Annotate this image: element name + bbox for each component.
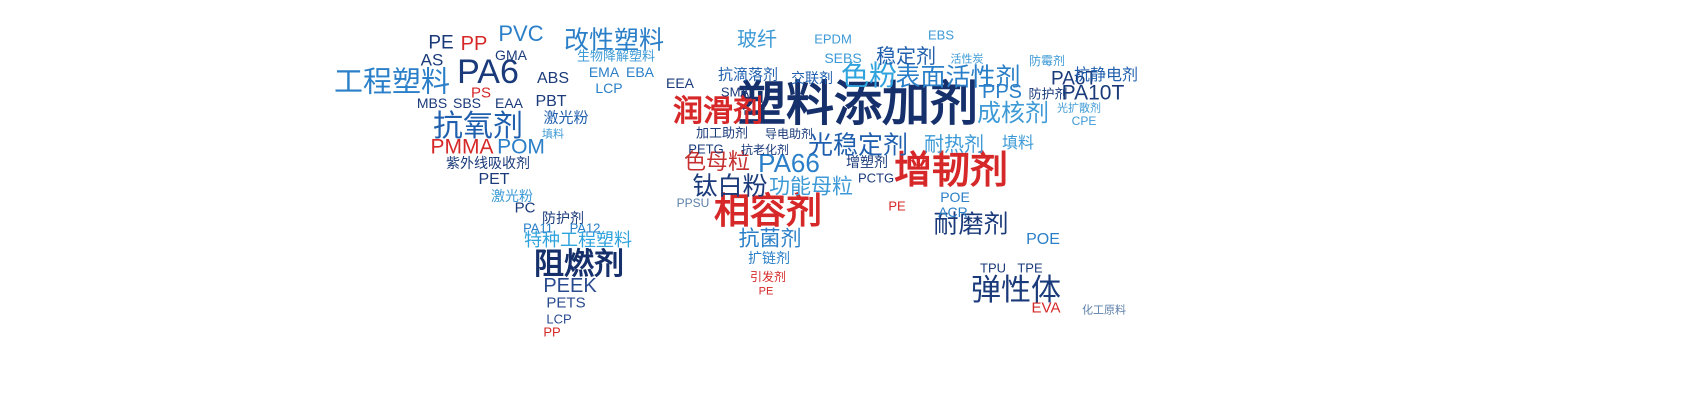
cloud-word[interactable]: EBA xyxy=(626,65,654,79)
cloud-word[interactable]: 光稳定剂 xyxy=(808,133,908,158)
cloud-word[interactable]: GMA xyxy=(495,48,527,62)
cloud-word[interactable]: ACR xyxy=(938,205,968,219)
cloud-word[interactable]: 玻纤 xyxy=(737,29,777,49)
cloud-word[interactable]: 成核剂 xyxy=(977,101,1049,125)
cloud-word[interactable]: POE xyxy=(940,190,970,204)
cloud-word[interactable]: 光扩散剂 xyxy=(1057,103,1101,114)
cloud-word[interactable]: PPSU xyxy=(677,197,710,209)
cloud-word[interactable]: PA12 xyxy=(570,222,601,235)
cloud-word[interactable]: POE xyxy=(1026,232,1060,248)
cloud-word[interactable]: 交联剂 xyxy=(791,72,833,86)
cloud-word[interactable]: EEA xyxy=(666,76,694,90)
cloud-word[interactable]: 润滑剂 xyxy=(673,97,763,127)
cloud-word[interactable]: 生物降解塑料 xyxy=(577,51,655,64)
cloud-word[interactable]: 激光粉 xyxy=(543,111,588,126)
cloud-word[interactable]: PETS xyxy=(546,296,585,311)
cloud-word[interactable]: TPU xyxy=(980,262,1006,275)
cloud-word[interactable]: 扩链剂 xyxy=(748,252,790,266)
cloud-word[interactable]: PPS xyxy=(982,82,1022,102)
cloud-word[interactable]: 抗静电剂 xyxy=(1074,67,1138,83)
cloud-word[interactable]: 防护剂 xyxy=(1028,89,1067,102)
cloud-word[interactable]: PC xyxy=(515,201,536,216)
cloud-word[interactable]: PEEK xyxy=(543,276,596,296)
cloud-word[interactable]: EAA xyxy=(495,96,523,110)
cloud-word[interactable]: EPDM xyxy=(814,33,852,46)
cloud-word[interactable]: 引发剂 xyxy=(750,271,786,283)
cloud-word[interactable]: 增塑剂 xyxy=(846,156,888,170)
cloud-word[interactable]: EVA xyxy=(1032,301,1061,316)
cloud-word[interactable]: PET xyxy=(478,172,509,188)
cloud-word[interactable]: 抗菌剂 xyxy=(739,229,802,250)
cloud-word[interactable]: 导电助剂 xyxy=(765,128,813,140)
cloud-word[interactable]: PETG xyxy=(688,143,723,156)
cloud-word[interactable]: 功能母粒 xyxy=(769,177,853,198)
cloud-word[interactable]: 抗老化剂 xyxy=(741,144,789,156)
cloud-word[interactable]: TPE xyxy=(1017,262,1042,275)
cloud-word[interactable]: 稳定剂 xyxy=(876,46,936,66)
cloud-word[interactable]: PA11 xyxy=(523,222,553,235)
cloud-word[interactable]: 化工原料 xyxy=(1082,305,1126,316)
cloud-word[interactable]: AS xyxy=(421,52,444,69)
cloud-word[interactable]: SBS xyxy=(453,96,481,110)
cloud-word[interactable]: 填料 xyxy=(1002,135,1034,151)
cloud-word[interactable]: SMA xyxy=(721,86,749,99)
cloud-word[interactable]: 耐热剂 xyxy=(924,134,984,154)
cloud-word[interactable]: SEBS xyxy=(824,51,861,65)
cloud-word[interactable]: PMMA xyxy=(431,137,494,158)
cloud-word[interactable]: 紫外线吸收剂 xyxy=(446,157,530,171)
cloud-word[interactable]: 加工助剂 xyxy=(696,128,748,141)
cloud-word[interactable]: CPE xyxy=(1072,115,1097,127)
cloud-word[interactable]: POM xyxy=(497,137,545,158)
cloud-word[interactable]: PP xyxy=(543,326,560,339)
cloud-word[interactable]: 钛白粉 xyxy=(692,174,767,199)
cloud-word[interactable]: 防霉剂 xyxy=(1029,55,1065,67)
cloud-word[interactable]: 活性炭 xyxy=(951,54,984,65)
cloud-word[interactable]: ABS xyxy=(537,71,569,87)
cloud-word[interactable]: PE xyxy=(759,287,774,298)
cloud-word[interactable]: PP xyxy=(461,34,488,54)
cloud-word[interactable]: PVC xyxy=(498,23,543,45)
cloud-word[interactable]: EMA xyxy=(589,65,619,79)
cloud-word[interactable]: EBS xyxy=(928,29,954,42)
word-cloud-canvas: 塑料添加剂增韧剂相容剂阻燃剂润滑剂工程塑料抗氧剂PA6弹性体色粉改性塑料表面活性… xyxy=(0,0,1707,400)
cloud-word[interactable]: 填料 xyxy=(542,129,564,140)
cloud-word[interactable]: 增韧剂 xyxy=(894,151,1008,189)
cloud-word[interactable]: PE xyxy=(888,200,905,213)
cloud-word[interactable]: PCTG xyxy=(858,172,894,185)
cloud-word[interactable]: 工程塑料 xyxy=(334,68,450,97)
cloud-word[interactable]: MBS xyxy=(417,96,447,110)
cloud-word[interactable]: LCP xyxy=(595,81,622,95)
cloud-word[interactable]: 抗滴落剂 xyxy=(718,68,778,83)
